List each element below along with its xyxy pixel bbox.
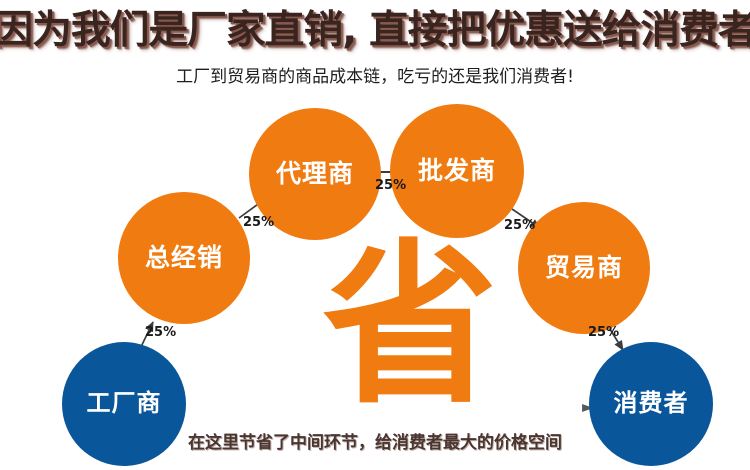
page-subtitle: 工厂到贸易商的商品成本链，吃亏的还是我们消费者!	[0, 62, 750, 87]
node-agent-label: 代理商	[276, 161, 354, 186]
markup-label-wholesale-trader: 25%	[504, 218, 535, 233]
node-consumer-label: 消费者	[614, 391, 689, 415]
node-general-distributor[interactable]: 总经销	[118, 192, 250, 324]
markup-label-trader-consumer: 25%	[588, 325, 619, 340]
markup-label-general-agent: 25%	[243, 215, 274, 230]
node-wholesaler-label: 批发商	[418, 158, 496, 183]
markup-label-agent-wholesale: 25%	[375, 178, 406, 193]
node-trader[interactable]: 贸易商	[518, 202, 650, 334]
node-factory-label: 工厂商	[87, 391, 162, 415]
promo-banner: 因为我们是厂家直销, 直接把优惠送给消费者 工厂到贸易商的商品成本链，吃亏的还是…	[0, 0, 750, 470]
bottom-caption: 在这里节省了中间环节，给消费者最大的价格空间	[0, 428, 750, 453]
page-title: 因为我们是厂家直销, 直接把优惠送给消费者	[0, 8, 750, 54]
markup-label-factory-general: 25%	[145, 325, 176, 340]
save-glyph: 省	[320, 232, 500, 422]
node-trader-label: 贸易商	[545, 255, 623, 280]
node-general-distributor-label: 总经销	[145, 245, 223, 270]
